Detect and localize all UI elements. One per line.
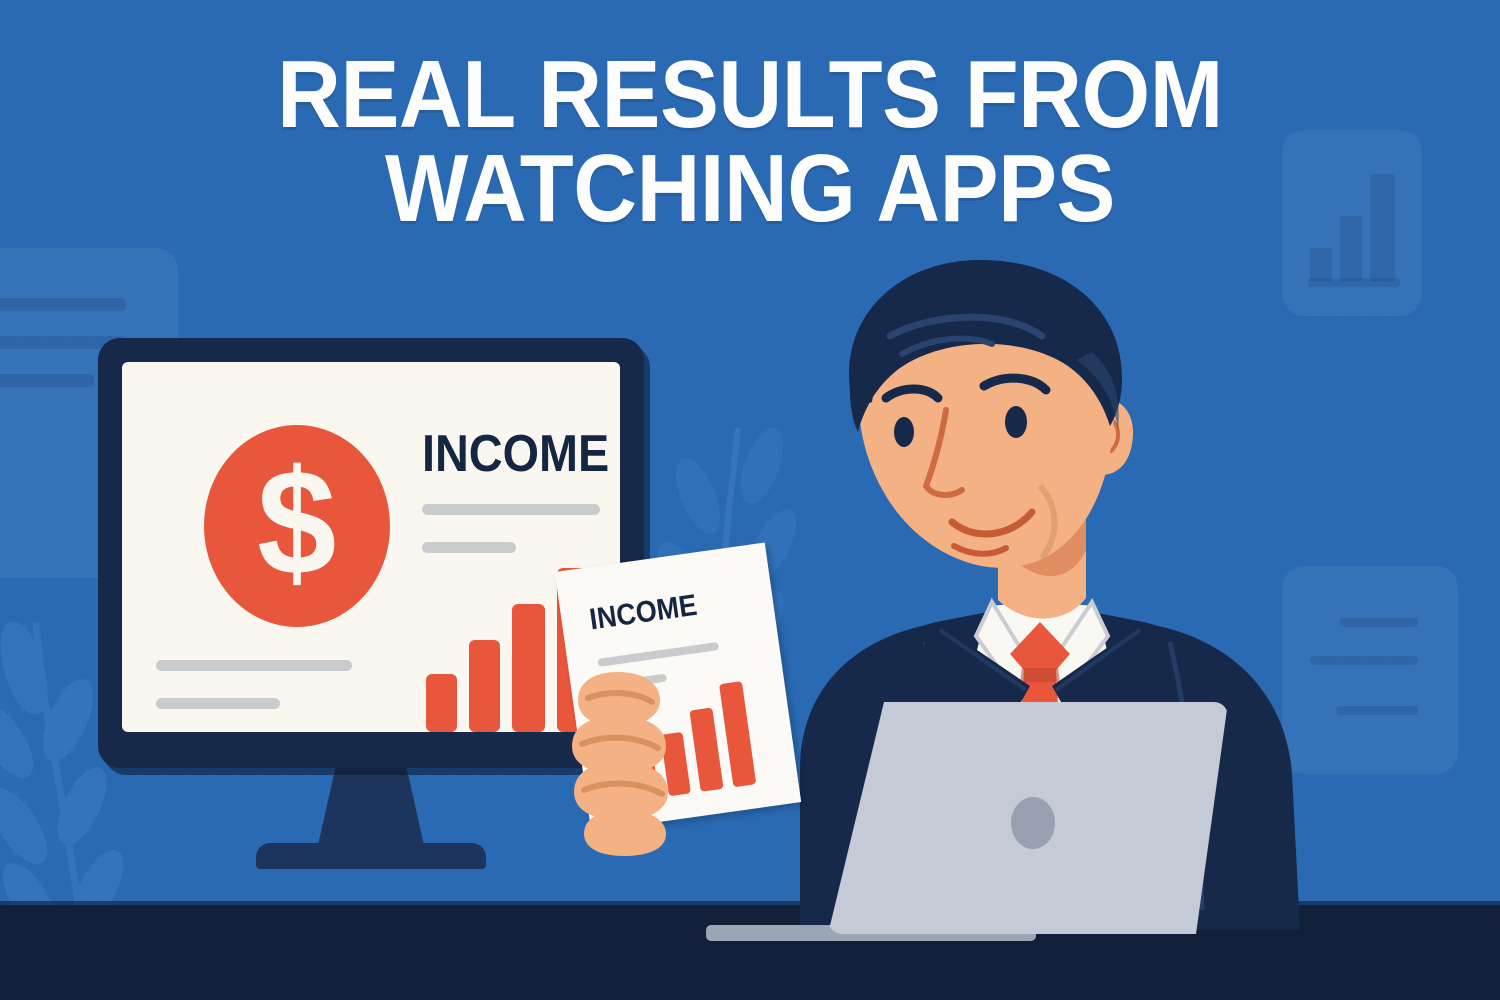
- monitor-bar-2: [469, 640, 500, 732]
- poster-canvas: REAL RESULTS FROM WATCHING APPS $ INCOME: [0, 0, 1500, 1000]
- laptop: [828, 702, 1228, 934]
- monitor-bar-1: [426, 674, 457, 732]
- desktop-monitor: $ INCOME: [98, 338, 644, 768]
- monitor-text-line-3: [156, 660, 352, 671]
- page-title: REAL RESULTS FROM WATCHING APPS: [60, 48, 1440, 236]
- monitor-bar-3: [512, 604, 545, 732]
- monitor-screen: $ INCOME: [122, 362, 620, 732]
- laptop-logo-icon: [1011, 797, 1055, 849]
- paper-income-heading: INCOME: [588, 589, 700, 638]
- hand-holding-paper: [566, 664, 696, 860]
- monitor-income-heading: INCOME: [422, 424, 609, 484]
- dollar-coin-icon: $: [204, 425, 390, 627]
- monitor-text-line-4: [156, 698, 280, 709]
- paper-bar-4: [719, 681, 756, 787]
- monitor-text-line-1: [422, 504, 600, 515]
